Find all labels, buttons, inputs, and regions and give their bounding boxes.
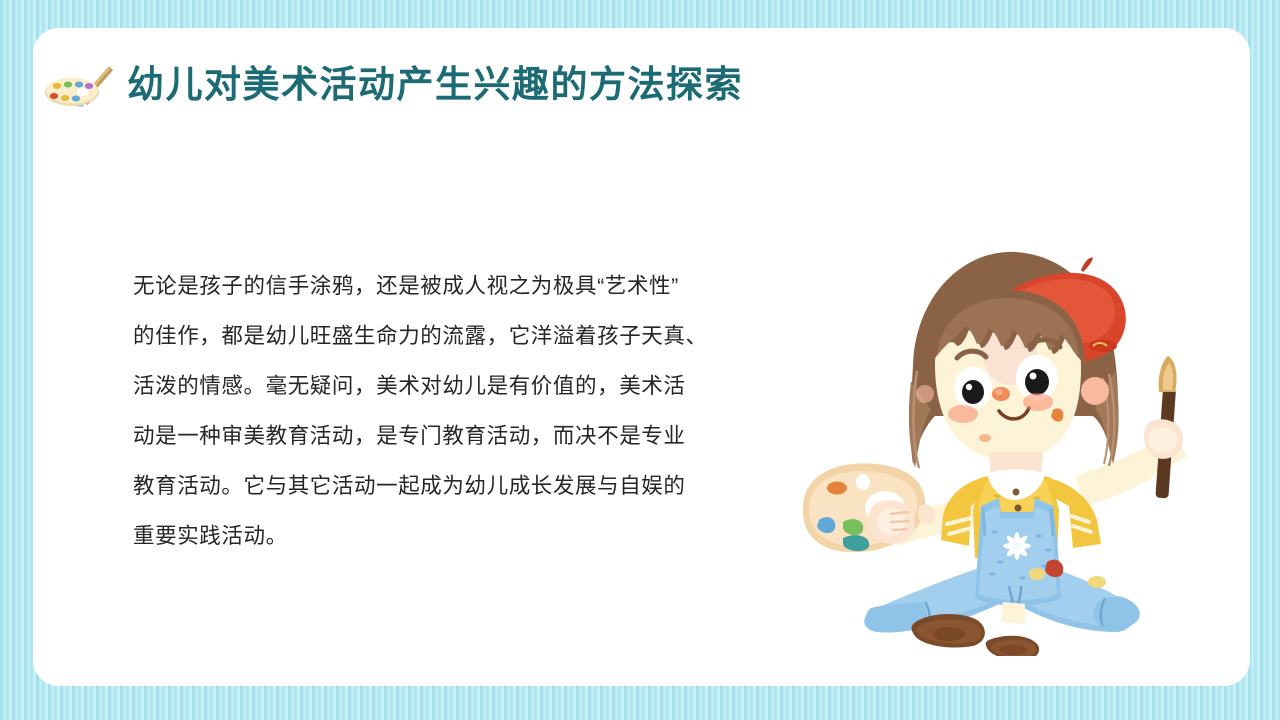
page-title: 幼儿对美术活动产生兴趣的方法探索 [127, 67, 743, 104]
girl-painter-illustration [785, 206, 1235, 656]
body-line: 重要实践活动。 [133, 511, 733, 561]
body-line: 的佳作，都是幼儿旺盛生命力的流露，它洋溢着孩子天真、 [133, 311, 733, 361]
flower-motif [1003, 532, 1031, 560]
slide-header: 幼儿对美术活动产生兴趣的方法探索 [33, 54, 743, 116]
palette-with-brush-icon [41, 60, 115, 110]
body-line: 无论是孩子的信手涂鸦，还是被成人视之为极具“艺术性” [133, 261, 733, 311]
body-paragraph: 无论是孩子的信手涂鸦，还是被成人视之为极具“艺术性” 的佳作，都是幼儿旺盛生命力… [133, 261, 733, 561]
body-line: 动是一种审美教育活动，是专门教育活动，而决不是专业 [133, 411, 733, 461]
body-line: 活泼的情感。毫无疑问，美术对幼儿是有价值的，美术活 [133, 361, 733, 411]
slide-card: 幼儿对美术活动产生兴趣的方法探索 无论是孩子的信手涂鸦，还是被成人视之为极具“艺… [33, 28, 1250, 686]
body-line: 教育活动。它与其它活动一起成为幼儿成长发展与自娱的 [133, 461, 733, 511]
